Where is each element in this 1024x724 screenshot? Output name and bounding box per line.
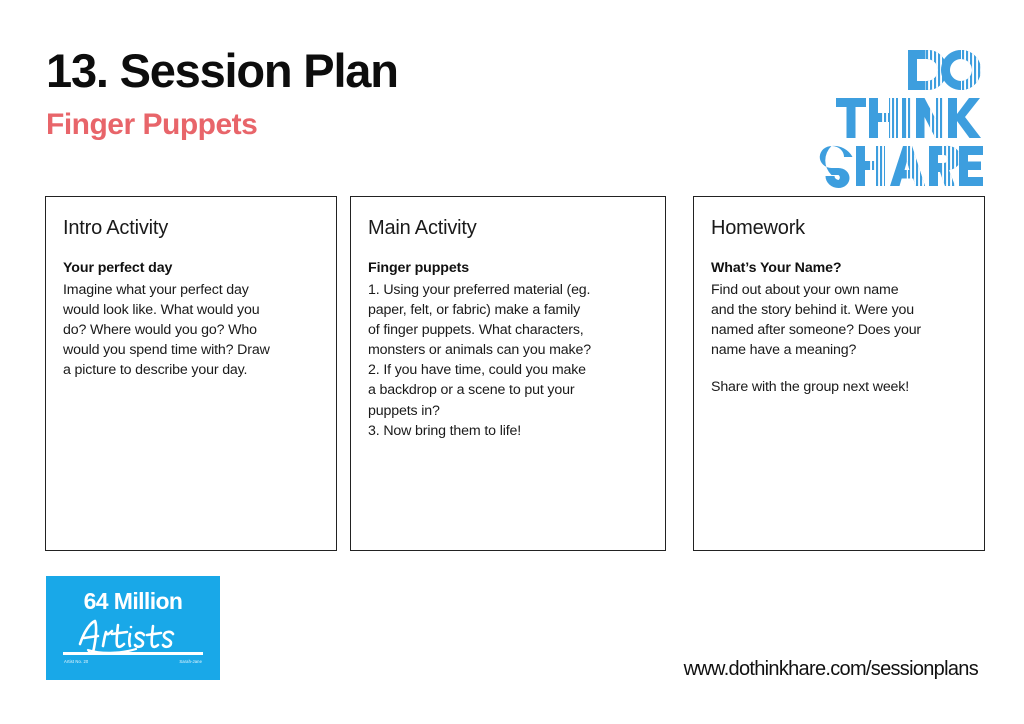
panel-body: 1. Using your preferred material (eg. pa…: [368, 280, 648, 441]
panel-main-activity: Main Activity Finger puppets 1. Using yo…: [350, 196, 666, 551]
page-subtitle: Finger Puppets: [46, 108, 398, 141]
page-title: 13. Session Plan: [46, 46, 398, 95]
panel-heading: Main Activity: [368, 217, 648, 239]
panel-intro-activity: Intro Activity Your perfect day Imagine …: [45, 196, 337, 551]
64-million-artists-logo: 64 Million: [46, 576, 220, 680]
panel-subheading: Your perfect day: [63, 259, 319, 279]
panel-body: Find out about your own name and the sto…: [711, 280, 967, 361]
session-plan-page: 13. Session Plan Finger Puppets: [0, 0, 1024, 724]
panel-body-secondary: Share with the group next week!: [711, 377, 967, 397]
panel-subheading: Finger puppets: [368, 259, 648, 279]
panel-heading: Homework: [711, 217, 967, 239]
footer-url[interactable]: www.dothinkhare.com/sessionplans: [684, 658, 978, 680]
logo-line-do: [796, 48, 986, 92]
panel-body: Imagine what your perfect day would look…: [63, 280, 319, 381]
panel-heading: Intro Activity: [63, 217, 319, 239]
artists-logo-micro-left: Artist No. 20: [64, 660, 88, 664]
panel-subheading: What’s Your Name?: [711, 259, 967, 279]
artists-logo-micro-right: Sarah-Jane: [179, 660, 202, 664]
activity-panels: Intro Activity Your perfect day Imagine …: [45, 196, 985, 553]
panel-homework: Homework What’s Your Name? Find out abou…: [693, 196, 985, 551]
do-think-share-logo: [796, 48, 986, 188]
logo-line-share: [796, 144, 986, 188]
title-block: 13. Session Plan Finger Puppets: [46, 46, 398, 141]
artists-logo-rule: [63, 652, 203, 655]
artists-logo-line1: 64 Million: [46, 590, 220, 613]
logo-line-think: [796, 96, 986, 140]
page-header: 13. Session Plan Finger Puppets: [46, 46, 986, 176]
